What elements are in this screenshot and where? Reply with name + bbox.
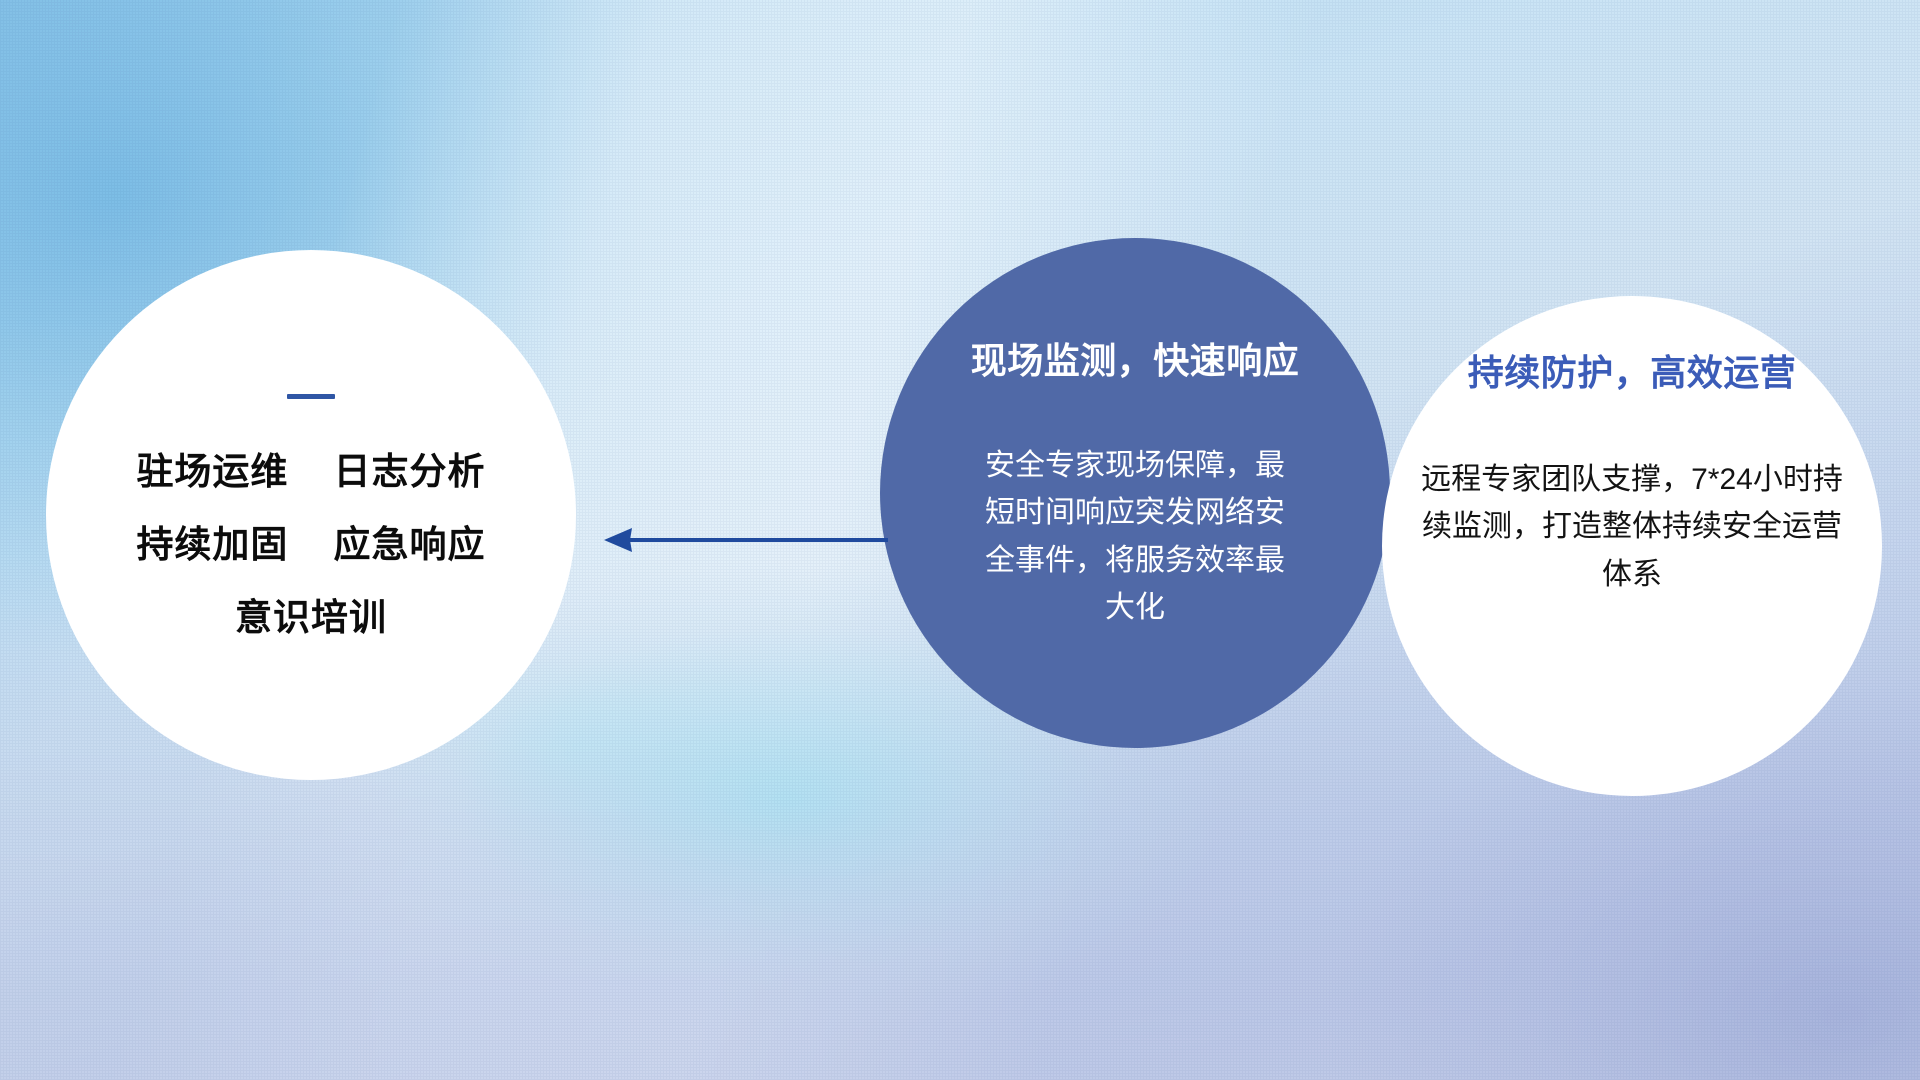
capabilities-content: 驻场运维 日志分析 持续加固 应急响应 意识培训 xyxy=(46,250,576,780)
slide-canvas: 驻场运维 日志分析 持续加固 应急响应 意识培训 现场监测，快速响应 安全专家现… xyxy=(0,0,1920,1080)
onsite-monitoring-title: 现场监测，快速响应 xyxy=(971,332,1300,384)
onsite-monitoring-body: 安全专家现场保障，最短时间响应突发网络安全事件，将服务效率最大化 xyxy=(977,442,1293,632)
continuous-protection-content: 持续防护，高效运营 远程专家团队支撑，7*24小时持续监测，打造整体持续安全运营… xyxy=(1382,296,1882,796)
arrow-left-icon xyxy=(600,520,890,560)
capability-line-2: 持续加固 应急响应 xyxy=(136,526,485,563)
title-divider-rule xyxy=(287,394,335,399)
onsite-monitoring-content: 现场监测，快速响应 安全专家现场保障，最短时间响应突发网络安全事件，将服务效率最… xyxy=(880,238,1390,748)
capability-line-1: 驻场运维 日志分析 xyxy=(136,453,485,490)
continuous-protection-title: 持续防护，高效运营 xyxy=(1468,344,1797,396)
continuous-protection-body: 远程专家团队支撑，7*24小时持续监测，打造整体持续安全运营体系 xyxy=(1418,456,1846,598)
capability-line-3: 意识培训 xyxy=(235,599,387,636)
